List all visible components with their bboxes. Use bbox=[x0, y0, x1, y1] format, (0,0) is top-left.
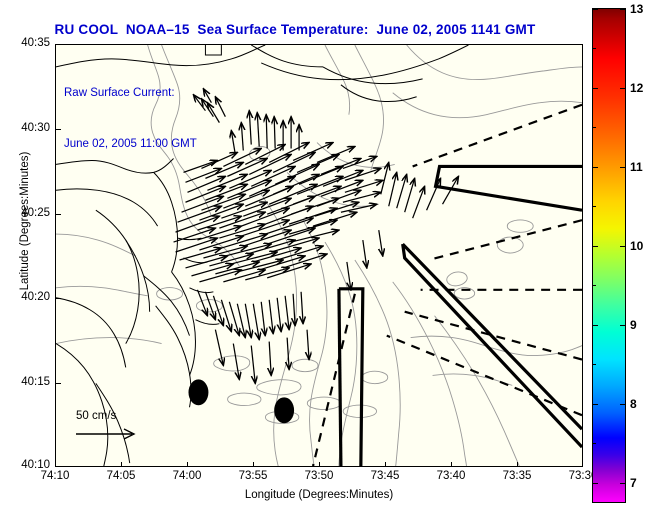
colorbar-tick-right bbox=[620, 9, 626, 10]
colorbar-tick-minor bbox=[592, 127, 596, 128]
colorbar-tick bbox=[592, 167, 598, 168]
ytick-label-4: 40:15 bbox=[6, 376, 50, 388]
colorbar-tick bbox=[592, 246, 598, 247]
colorbar-tick-right bbox=[620, 483, 626, 484]
sst-map-figure: RU COOL NOAA–15 Sea Surface Temperature:… bbox=[0, 0, 651, 515]
shipping-lane-polygons bbox=[339, 166, 582, 466]
xtick-label-0: 74:10 bbox=[31, 470, 79, 482]
xtick-mark bbox=[121, 462, 122, 467]
xtick-mark bbox=[187, 462, 188, 467]
colorbar-label-9: 9 bbox=[630, 318, 637, 332]
colorbar-tick bbox=[592, 404, 598, 405]
ytick-mark bbox=[56, 129, 61, 130]
colorbar-tick-minor bbox=[592, 206, 596, 207]
xtick-mark bbox=[253, 462, 254, 467]
colorbar-tick-minor bbox=[592, 443, 596, 444]
surface-current-vectors bbox=[174, 89, 459, 384]
x-axis-label: Longitude (Degrees:Minutes) bbox=[55, 489, 583, 501]
vector-scale-arrow-icon bbox=[74, 427, 144, 441]
colorbar-tick-right bbox=[620, 246, 626, 247]
xtick-label-2: 74:00 bbox=[163, 470, 211, 482]
vector-scale-key: 50 cm/s bbox=[64, 410, 174, 446]
page-title: RU COOL NOAA–15 Sea Surface Temperature:… bbox=[0, 22, 590, 37]
colorbar-label-10: 10 bbox=[630, 239, 643, 253]
vector-scale-label: 50 cm/s bbox=[76, 410, 174, 422]
ytick-mark bbox=[56, 383, 61, 384]
xtick-mark bbox=[451, 462, 452, 467]
colorbar-tick bbox=[592, 483, 598, 484]
temperature-colorbar[interactable] bbox=[592, 8, 626, 503]
colorbar-tick-minor bbox=[592, 285, 596, 286]
station-markers bbox=[188, 379, 294, 423]
y-axis-label: Latitude (Degrees:Minutes) bbox=[19, 121, 31, 321]
colorbar-tick bbox=[592, 9, 598, 10]
ytick-label-5: 40:10 bbox=[6, 459, 50, 471]
xtick-mark bbox=[385, 462, 386, 467]
ytick-mark bbox=[56, 298, 61, 299]
ytick-label-0: 40:35 bbox=[6, 37, 50, 49]
ytick-mark bbox=[56, 44, 61, 45]
xtick-label-6: 73:40 bbox=[427, 470, 475, 482]
xtick-mark bbox=[517, 462, 518, 467]
colorbar-tick-minor bbox=[592, 364, 596, 365]
xtick-label-1: 74:05 bbox=[97, 470, 145, 482]
colorbar-tick-right bbox=[620, 404, 626, 405]
colorbar-tick-minor bbox=[592, 48, 596, 49]
xtick-mark bbox=[319, 462, 320, 467]
colorbar-tick-right bbox=[620, 88, 626, 89]
colorbar-label-13: 13 bbox=[630, 2, 643, 16]
map-plot-area[interactable]: Raw Surface Current: June 02, 2005 11:00… bbox=[55, 44, 583, 467]
colorbar-label-11: 11 bbox=[630, 160, 643, 174]
xtick-label-5: 73:45 bbox=[361, 470, 409, 482]
colorbar-tick bbox=[592, 88, 598, 89]
colorbar-label-12: 12 bbox=[630, 81, 643, 95]
xtick-label-7: 73:35 bbox=[493, 470, 541, 482]
colorbar-label-7: 7 bbox=[630, 476, 637, 490]
xtick-label-4: 73:50 bbox=[295, 470, 343, 482]
ytick-mark bbox=[56, 466, 61, 467]
colorbar-label-8: 8 bbox=[630, 397, 637, 411]
colorbar-tick bbox=[592, 325, 598, 326]
colorbar-tick-right bbox=[620, 167, 626, 168]
xtick-label-3: 73:55 bbox=[229, 470, 277, 482]
map-graphics bbox=[56, 45, 582, 466]
ytick-mark bbox=[56, 214, 61, 215]
colorbar-tick-right bbox=[620, 325, 626, 326]
radial-dashed-lines bbox=[313, 105, 582, 466]
